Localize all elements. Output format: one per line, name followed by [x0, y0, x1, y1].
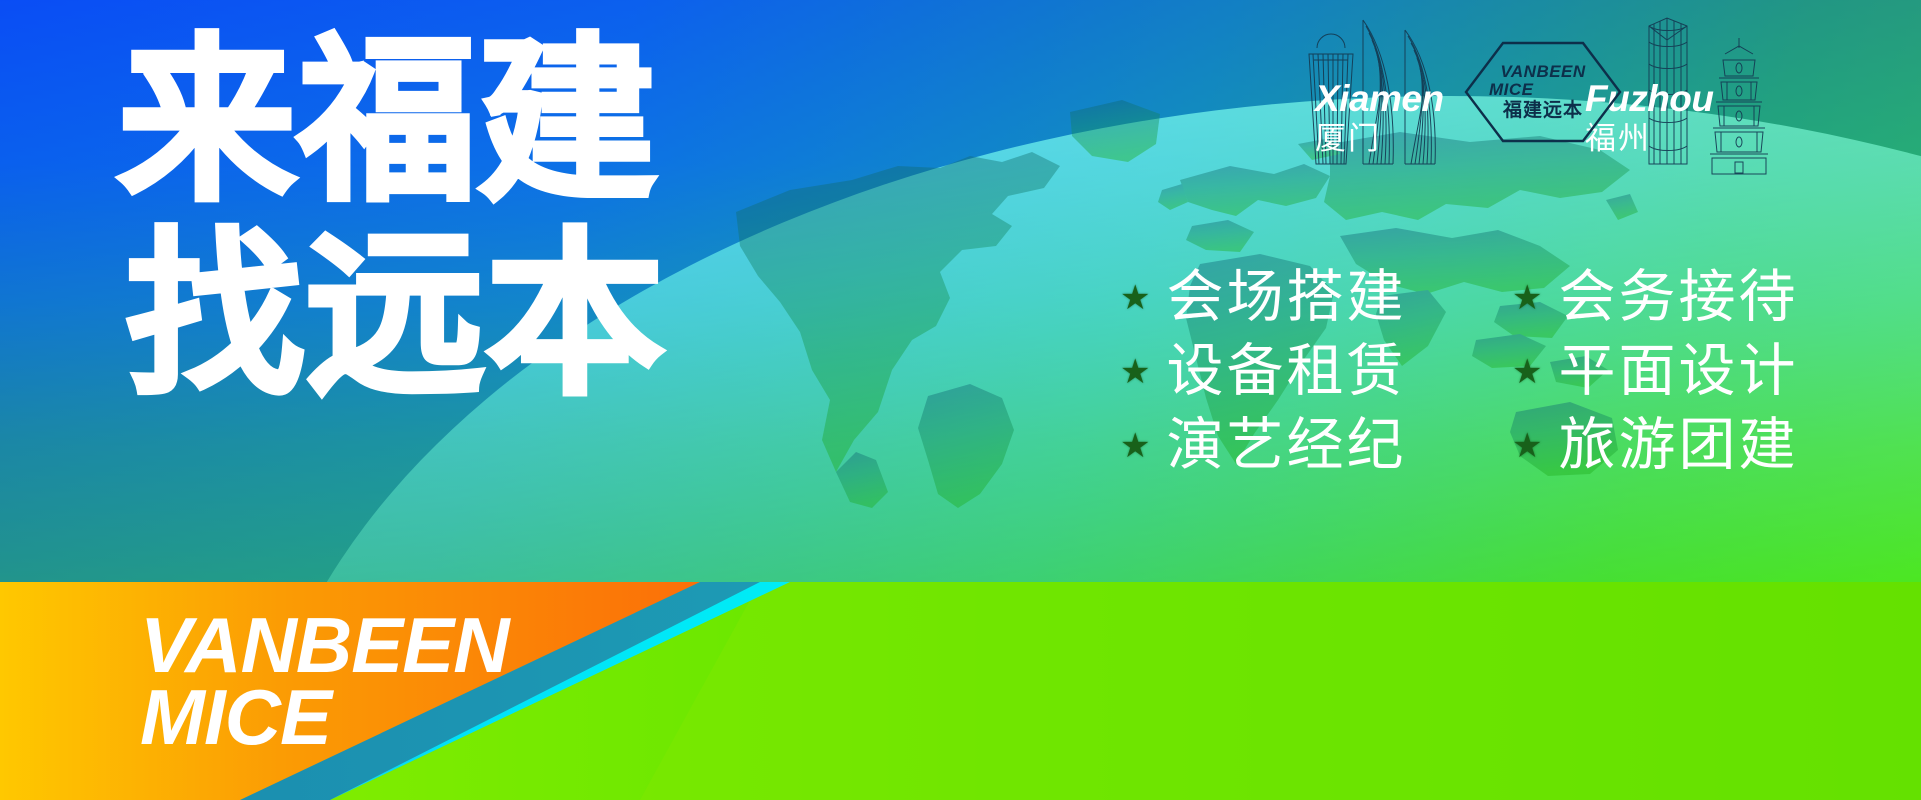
- service-item: ★ 会场搭建: [1120, 268, 1488, 328]
- service-label: 平面设计: [1558, 342, 1798, 402]
- hex-line-3: 福建远本: [1503, 101, 1583, 120]
- star-icon: ★: [1120, 429, 1150, 463]
- star-icon: ★: [1512, 281, 1542, 315]
- city-xiamen: Xiamen 厦门: [1315, 80, 1465, 154]
- vanbeen-hex-logo: VANBEEN MICE 福建远本: [1463, 40, 1623, 144]
- star-icon: ★: [1512, 355, 1542, 389]
- service-item: ★ 会务接待: [1512, 268, 1880, 328]
- service-label: 会场搭建: [1166, 268, 1406, 328]
- bottom-brand-bar: VANBEEN MICE: [0, 582, 1921, 800]
- service-item: ★ 旅游团建: [1512, 416, 1880, 476]
- city-xiamen-en: Xiamen: [1315, 80, 1465, 117]
- city-lockup: Xiamen 厦门 Fuzhou 福州 VANBEEN MICE 福建远本: [1295, 2, 1795, 177]
- service-label: 设备租赁: [1166, 342, 1406, 402]
- title-line-1: 来福建: [118, 22, 658, 221]
- hex-logo-text: VANBEEN MICE 福建远本: [1463, 40, 1623, 144]
- hex-line-1: VANBEEN: [1500, 63, 1585, 80]
- star-icon: ★: [1120, 355, 1150, 389]
- service-label: 演艺经纪: [1166, 416, 1406, 476]
- star-icon: ★: [1120, 281, 1150, 315]
- star-icon: ★: [1512, 429, 1542, 463]
- service-item: ★ 设备租赁: [1120, 342, 1488, 402]
- service-label: 旅游团建: [1558, 416, 1798, 476]
- service-list: ★ 会场搭建 ★ 会务接待 ★ 设备租赁 ★ 平面设计 ★ 演艺经纪 ★ 旅游团…: [1120, 268, 1880, 476]
- title-line-2: 找远本: [126, 228, 666, 404]
- brand-wordmark: VANBEEN MICE: [140, 610, 509, 754]
- page-title: 来福建 找远本: [118, 34, 666, 404]
- service-item: ★ 平面设计: [1512, 342, 1880, 402]
- service-label: 会务接待: [1558, 268, 1798, 328]
- city-xiamen-cn: 厦门: [1315, 123, 1465, 154]
- brand-line-2: MICE: [140, 682, 509, 754]
- service-item: ★ 演艺经纪: [1120, 416, 1488, 476]
- hex-line-2: MICE: [1489, 81, 1534, 98]
- banner-stage: 来福建 找远本 ★ 会场搭建 ★ 会务接待 ★ 设备租赁 ★ 平面设计 ★: [0, 0, 1921, 582]
- promo-banner: 来福建 找远本 ★ 会场搭建 ★ 会务接待 ★ 设备租赁 ★ 平面设计 ★: [0, 0, 1921, 800]
